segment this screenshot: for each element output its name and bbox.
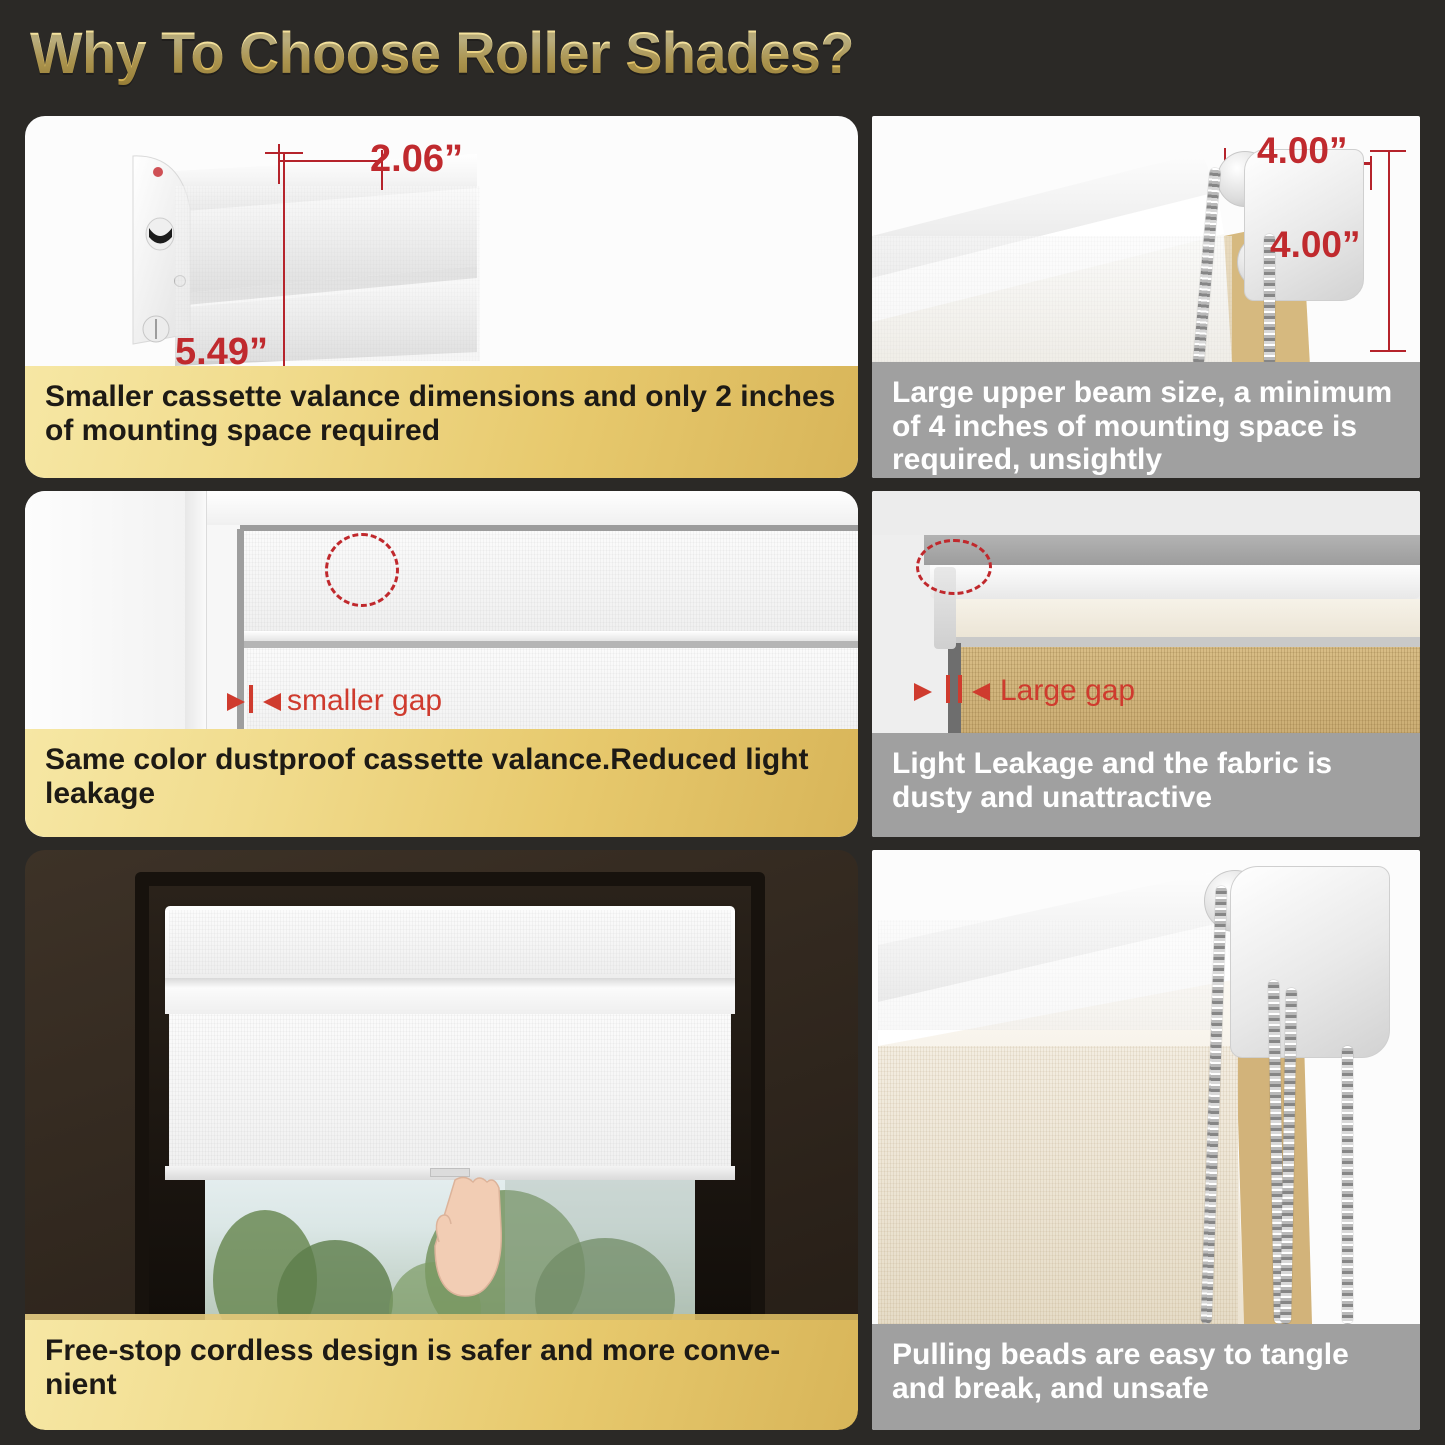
caption-free-stop-cordless: Free-stop cordless design is safer and m… — [25, 1320, 858, 1430]
panel-smaller-cassette-valance[interactable]: 2.06” 5.49” Smaller cassette valance dim… — [25, 116, 858, 478]
gap-arrow-right — [263, 693, 281, 711]
caption-smaller-cassette-valance: Smaller cassette valance dimensions and … — [25, 366, 858, 478]
gap-label-smaller: smaller gap — [287, 684, 442, 718]
valance-roll — [165, 988, 735, 1014]
beam-top-shadow — [924, 535, 1420, 565]
wall-bracket — [1230, 866, 1390, 1058]
panel-pulling-beads[interactable]: Pulling beads are easy to tangle and bre… — [872, 850, 1420, 1430]
page-title: Why To Choose Roller Shades? — [30, 20, 854, 87]
caption-light-leakage: Light Leakage and the fabric is dusty an… — [872, 733, 1420, 837]
panel-light-leakage[interactable]: Large gap Light Leakage and the fabric i… — [872, 491, 1420, 837]
panel-large-upper-beam[interactable]: 4.00” 4.00” Large upper beam size, a min… — [872, 116, 1420, 478]
dim-tick-top-left — [278, 144, 280, 184]
beam-dim-tick-right — [1370, 156, 1372, 190]
caption-line-2: nient — [45, 1368, 117, 1401]
caption-line-1: Free-stop cordless design is safer and m… — [45, 1334, 780, 1367]
highlight-circle-large-gap — [916, 539, 992, 595]
gap-marker-bar — [249, 685, 253, 713]
beam-dimension-width-label: 4.00” — [1257, 130, 1348, 172]
dimension-width-label: 2.06” — [370, 138, 463, 181]
valance-bottom-lip — [165, 978, 735, 988]
beam-cream-band — [934, 599, 1420, 637]
dim-tick-height-top — [265, 152, 303, 154]
large-gap-arrow-right — [972, 683, 990, 701]
beam-fabric-texture — [872, 236, 1232, 366]
beam-dim-tick-h-bottom — [1370, 350, 1406, 352]
caption-dustproof-cassette-valance: Same color dustproof cassette valance.Re… — [25, 729, 858, 837]
shade-fabric-main — [169, 1014, 731, 1172]
large-gap-marker-bar-2 — [958, 675, 962, 703]
window-header-trim — [207, 491, 858, 525]
valance-texture — [169, 910, 731, 974]
hand-illustration — [423, 1172, 533, 1332]
beam-dimension-height-label: 4.00” — [1270, 224, 1361, 266]
gap-arrow-left — [227, 693, 245, 711]
panel-dustproof-cassette-valance[interactable]: smaller gap Same color dustproof cassett… — [25, 491, 858, 837]
beige-fabric-texture — [878, 1046, 1238, 1324]
valance-shadow-line — [243, 641, 858, 648]
beam-dim-tick-h-top — [1370, 150, 1406, 152]
beam-dim-line-height — [1388, 150, 1390, 352]
caption-pulling-beads: Pulling beads are easy to tangle and bre… — [872, 1324, 1420, 1430]
roll-fabric-texture — [878, 920, 1218, 1030]
gap-label-large: Large gap — [1000, 674, 1135, 708]
beam-lower-edge — [938, 637, 1420, 647]
panel-free-stop-cordless[interactable]: Free-stop cordless design is safer and m… — [25, 850, 858, 1430]
comparison-grid: 2.06” 5.49” Smaller cassette valance dim… — [0, 108, 1445, 1445]
beam-white-roll — [930, 565, 1420, 599]
dim-line-width — [278, 160, 383, 162]
dimension-height-label: 5.49” — [175, 331, 268, 374]
valance-divider — [243, 631, 858, 641]
bead-chain-4 — [1342, 1046, 1353, 1324]
large-gap-marker-bar-1 — [946, 675, 950, 703]
highlight-circle-smaller-gap — [325, 533, 399, 607]
wall-top — [872, 491, 1420, 535]
caption-large-upper-beam: Large upper beam size, a minimum of 4 in… — [872, 362, 1420, 478]
large-gap-arrow-left — [914, 683, 932, 701]
gap-shadow — [237, 529, 244, 759]
